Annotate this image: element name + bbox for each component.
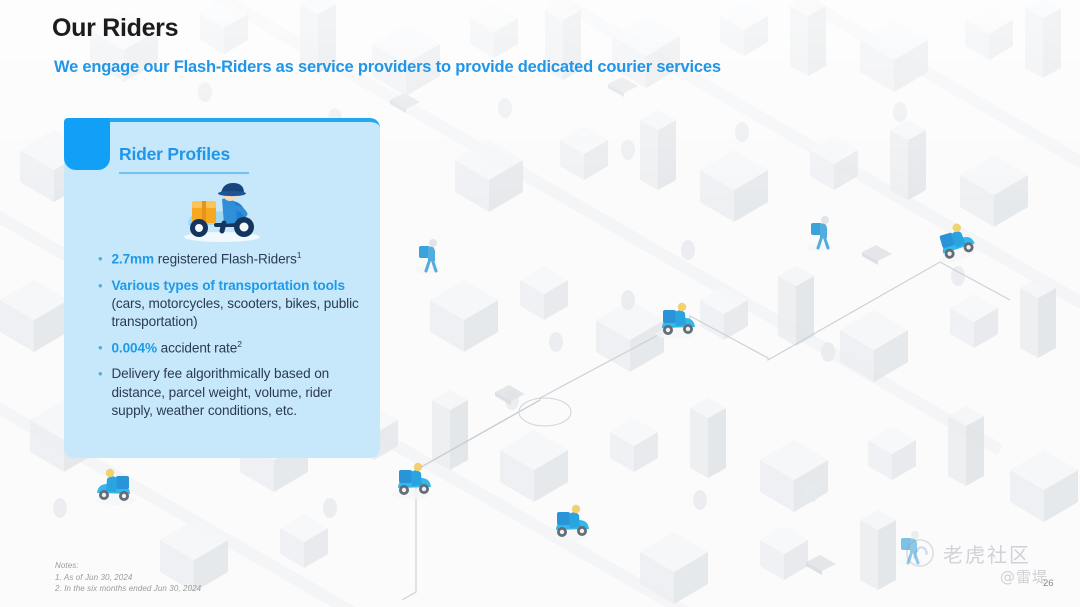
bullet-text: registered Flash-Riders [154, 252, 297, 267]
list-item: • 0.004% accident rate2 [98, 339, 364, 358]
bullet-footnote-ref: 1 [297, 250, 302, 260]
bullet-footnote-ref: 2 [237, 339, 242, 349]
bullet-dot: • [98, 365, 102, 419]
page-subtitle: We engage our Flash-Riders as service pr… [54, 58, 721, 77]
tiger-community-logo-icon [905, 538, 935, 568]
bullet-highlight: 2.7mm [111, 252, 154, 267]
bullet-dot: • [98, 339, 102, 358]
page-title: Our Riders [52, 14, 178, 43]
delivery-scooter-rider-icon [64, 174, 380, 250]
list-item: • Various types of transportation tools(… [98, 277, 364, 331]
watermark-text: 老虎社区 [943, 539, 1031, 568]
rider-marker-scooter-topright [931, 220, 979, 266]
list-item: • 2.7mm registered Flash-Riders1 [98, 250, 364, 269]
card-title: Rider Profiles [119, 144, 230, 165]
bullet-text: Delivery fee algorithmically based on di… [111, 365, 364, 419]
rider-marker-walking-right [807, 216, 833, 251]
rider-marker-scooter-mid [656, 303, 696, 339]
list-item: • Delivery fee algorithmically based on … [98, 365, 364, 419]
rider-marker-scooter-left [96, 469, 136, 505]
page-number: 26 [1043, 578, 1054, 589]
footnote-item: 2. In the six months ended Jun 30, 2024 [55, 583, 201, 595]
card-accent-tab [64, 118, 110, 170]
bullet-highlight: Various types of transportation tools [111, 278, 344, 293]
rider-marker-walking-left [415, 239, 441, 274]
footnote-item: 1. As of Jun 30, 2024 [55, 572, 201, 584]
card-bullet-list: • 2.7mm registered Flash-Riders1 • Vario… [98, 250, 364, 428]
rider-profiles-card: Rider Profiles [64, 118, 380, 458]
bullet-highlight: 0.004% [111, 340, 157, 355]
footnotes-label: Notes: [55, 560, 201, 572]
rider-marker-scooter-bottomleft [392, 463, 432, 499]
footnotes: Notes: 1. As of Jun 30, 2024 2. In the s… [55, 560, 201, 595]
watermark-handle: @雷堤 [1000, 566, 1048, 587]
watermark: 老虎社区 [905, 538, 1031, 568]
bullet-text: accident rate [157, 340, 237, 355]
bullet-text: (cars, motorcycles, scooters, bikes, pub… [111, 296, 358, 329]
rider-marker-scooter-bottommid [550, 505, 590, 541]
bullet-dot: • [98, 250, 102, 269]
bullet-dot: • [98, 277, 102, 331]
